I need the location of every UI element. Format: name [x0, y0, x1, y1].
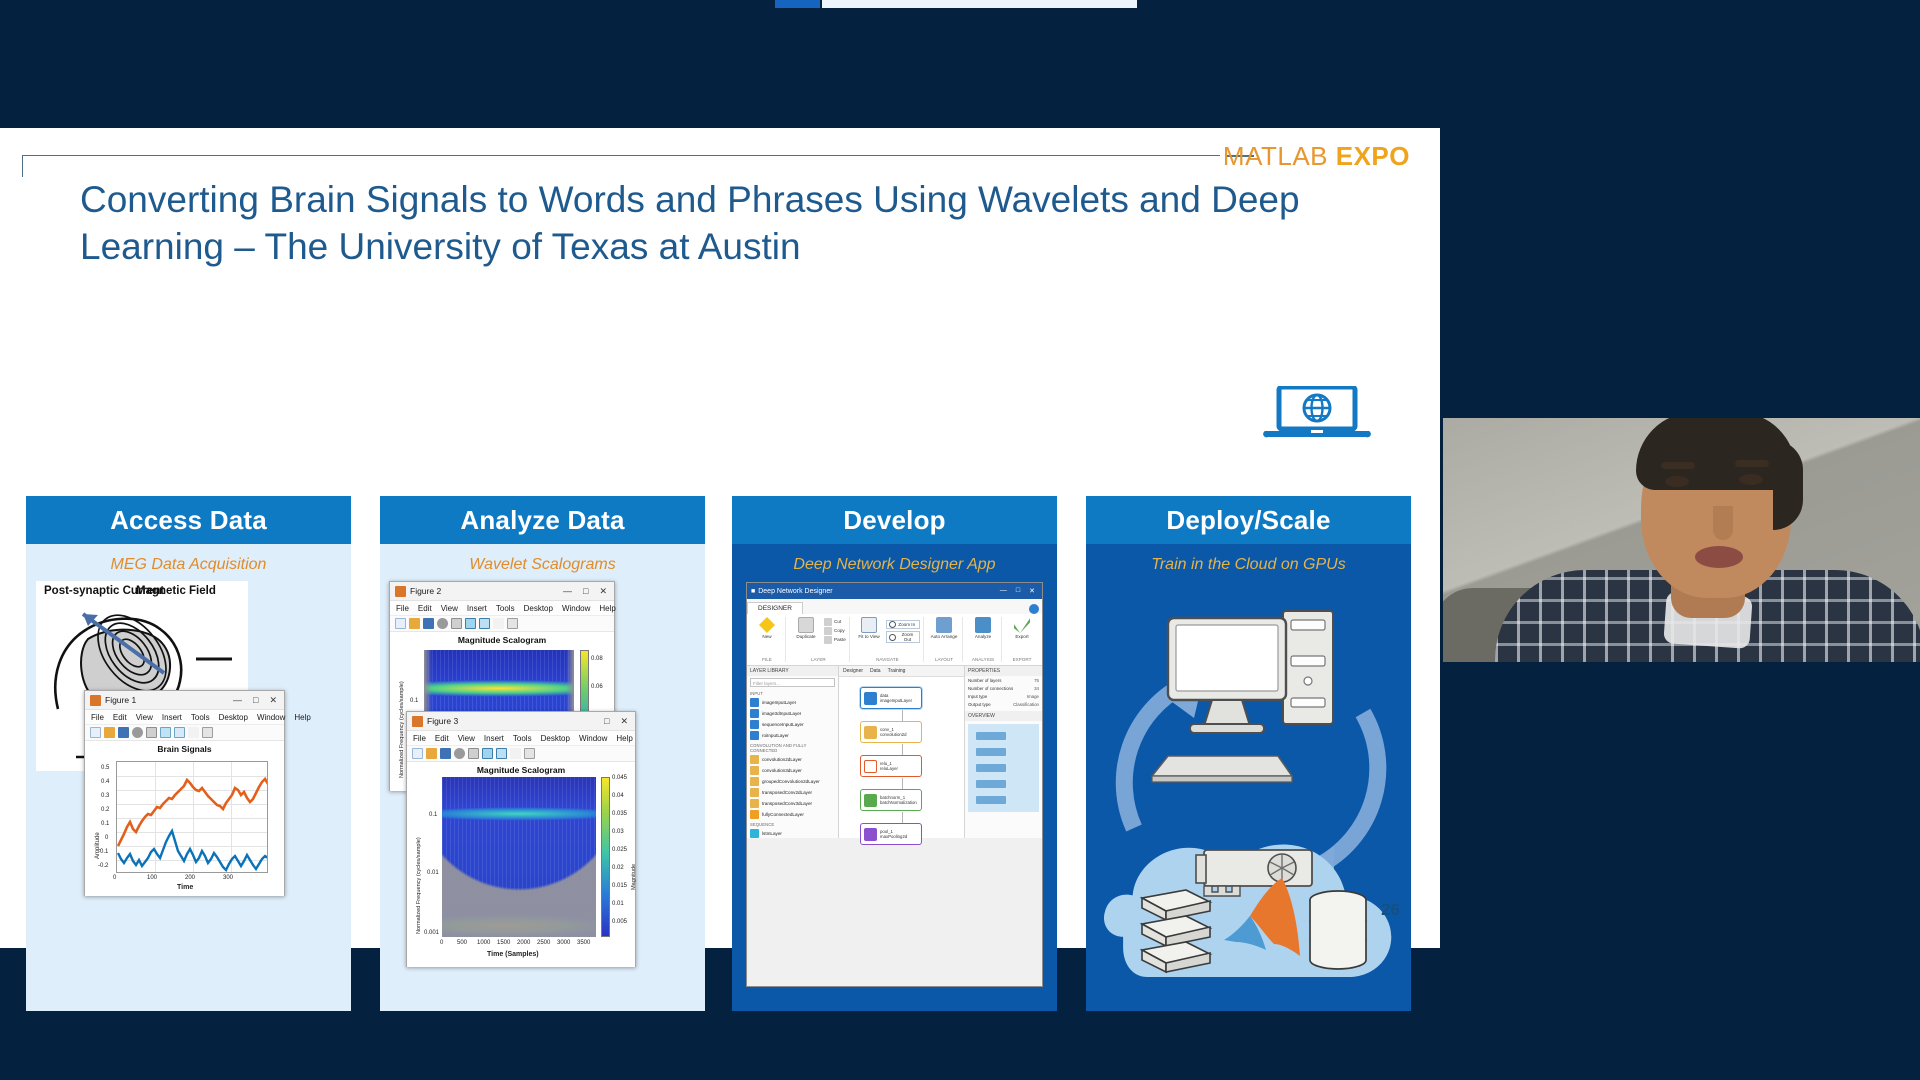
- app-ribbon[interactable]: New FILE Duplicate: [747, 614, 1042, 666]
- layer-library-panel[interactable]: LAYER LIBRARY Filter layers... INPUT ima…: [747, 666, 839, 838]
- save-icon[interactable]: [440, 748, 451, 759]
- figure-1-canvas: Brain Signals Amplitude 0.5 0.4 0.3 0.2 …: [85, 741, 284, 896]
- new-figure-icon[interactable]: [90, 727, 101, 738]
- ribbon-label-cut: Cut: [834, 619, 841, 624]
- webcam-eyebrow-left: [1661, 462, 1695, 469]
- menu-file[interactable]: File: [91, 713, 104, 722]
- layer-library-header: LAYER LIBRARY: [747, 666, 838, 676]
- property-value: 34: [1034, 686, 1039, 691]
- cb2-t7: 0.01: [612, 901, 624, 907]
- y-tick-1-2: 0.01: [427, 870, 439, 876]
- minimize-icon[interactable]: —: [1000, 587, 1007, 595]
- fit-to-view-icon: [861, 617, 877, 633]
- auto-arrange-icon: [936, 617, 952, 633]
- overview-header: OVERVIEW: [965, 711, 1042, 721]
- menu-file[interactable]: File: [413, 734, 426, 743]
- ribbon-button-export[interactable]: Export: [1007, 617, 1037, 639]
- print-preview-icon[interactable]: [132, 727, 143, 738]
- x-axis-label-time: Time: [177, 884, 193, 891]
- column-body-analyze-data: Wavelet Scalograms Figure 2 — □ ✕ File: [380, 544, 705, 1011]
- browser-active-tab-indicator[interactable]: [775, 0, 820, 8]
- figure-2-title: Figure 2: [410, 586, 441, 596]
- chart-title-magnitude-scalogram-2: Magnitude Scalogram: [407, 762, 635, 775]
- column-subtitle-develop: Deep Network Designer App: [732, 544, 1057, 574]
- figure-3-toolbar[interactable]: [407, 746, 635, 762]
- ribbon-group-analysis: Analyze ANALYSIS: [965, 617, 1002, 662]
- pointer-icon[interactable]: [510, 748, 521, 759]
- menu-desktop[interactable]: Desktop: [524, 604, 553, 613]
- property-key: Input type: [968, 694, 1027, 699]
- layer-icon: [750, 755, 759, 764]
- library-layer-item[interactable]: sequenceInputLayer: [747, 719, 838, 730]
- ribbon-group-layout: Auto Arrange LAYOUT: [926, 617, 963, 662]
- menu-tools[interactable]: Tools: [496, 604, 515, 613]
- cb2-t1: 0.04: [612, 793, 624, 799]
- header-rule: [22, 155, 1220, 156]
- print-icon[interactable]: [468, 748, 479, 759]
- webcam-mouth: [1695, 546, 1743, 568]
- menu-file[interactable]: File: [396, 604, 409, 613]
- figure-1-toolbar[interactable]: [85, 725, 284, 741]
- ribbon-label-paste: Paste: [834, 637, 846, 642]
- matlab-figure-icon: [90, 695, 101, 706]
- library-layer-item[interactable]: lstmLayer: [747, 828, 838, 838]
- library-category-sequence: SEQUENCE: [747, 820, 838, 828]
- chart-title-brain-signals: Brain Signals: [85, 741, 284, 754]
- pointer-icon[interactable]: [188, 727, 199, 738]
- ribbon-button-cut[interactable]: Cut: [824, 618, 846, 626]
- open-icon[interactable]: [409, 618, 420, 629]
- analyze-icon: [975, 617, 991, 633]
- canvas-node[interactable]: pool_1maxPooling2d: [860, 823, 922, 845]
- figure-3-window-buttons[interactable]: □ ✕: [604, 717, 632, 726]
- data-cursor-icon[interactable]: [465, 618, 476, 629]
- cloud-gpu-training-diagram: [1086, 578, 1411, 1008]
- menu-window[interactable]: Window: [579, 734, 607, 743]
- y-tick-6: -0.1: [98, 849, 108, 855]
- menu-insert[interactable]: Insert: [484, 734, 504, 743]
- column-header-analyze-data: Analyze Data: [380, 496, 705, 544]
- ribbon-label-zoom-in: Zoom In: [898, 622, 915, 627]
- ribbon-label-copy: Copy: [834, 628, 845, 633]
- menu-view[interactable]: View: [441, 604, 458, 613]
- cut-icon: [824, 618, 832, 626]
- column-header-develop: Develop: [732, 496, 1057, 544]
- y-tick-0-2: 0.1: [429, 812, 437, 818]
- layer-icon: [750, 777, 759, 786]
- library-category-convolution: CONVOLUTION AND FULLY CONNECTED: [747, 741, 838, 754]
- cb2-t6: 0.015: [612, 883, 627, 889]
- tab-training-view[interactable]: Training: [888, 668, 906, 674]
- matlab-figure-icon: [412, 716, 423, 727]
- matlab-figure-icon: [395, 586, 406, 597]
- figure-window-1[interactable]: Figure 1 — □ ✕ File Edit View Insert Too…: [84, 690, 285, 896]
- y-tick-7: -0.2: [98, 863, 108, 869]
- copy-icon: [824, 627, 832, 635]
- x2-t5: 2500: [537, 940, 550, 946]
- ribbon-group-label-navigate: NAVIGATE: [876, 657, 899, 662]
- property-key: Output type: [968, 702, 1013, 707]
- ribbon-button-copy[interactable]: Copy: [824, 627, 846, 635]
- menu-insert[interactable]: Insert: [467, 604, 487, 613]
- print-icon[interactable]: [146, 727, 157, 738]
- layer-search-input[interactable]: Filter layers...: [750, 678, 835, 687]
- colorbar-label-2: Magnitude: [631, 864, 637, 890]
- layer-icon: [750, 799, 759, 808]
- layer-icon: [750, 788, 759, 797]
- save-icon[interactable]: [118, 727, 129, 738]
- scalogram-heatmap-2: [442, 777, 596, 937]
- tab-designer-view[interactable]: Designer: [843, 668, 863, 674]
- figure-3-menubar[interactable]: File Edit View Insert Tools Desktop Wind…: [407, 731, 635, 746]
- app-icon: ■: [751, 588, 755, 595]
- ribbon-button-duplicate[interactable]: Duplicate: [791, 617, 821, 639]
- column-body-access-data: MEG Data Acquisition Post-synaptic Curre…: [26, 544, 351, 1011]
- layer-icon: [750, 766, 759, 775]
- menu-edit[interactable]: Edit: [418, 604, 432, 613]
- figure-1-titlebar[interactable]: Figure 1 — □ ✕: [85, 691, 284, 710]
- canvas-node[interactable]: conv_1convolution2d: [860, 721, 922, 743]
- presenter-webcam-video[interactable]: [1443, 400, 1920, 680]
- help-icon[interactable]: [1029, 604, 1039, 614]
- deep-network-designer-app[interactable]: ■ Deep Network Designer — □ ✕ DESIGNER: [746, 582, 1043, 987]
- library-layer-item[interactable]: image3dInputLayer: [747, 708, 838, 719]
- matlab-expo-logo: MATLAB EXPO: [1223, 141, 1410, 172]
- y-tick-2: 0.3: [101, 793, 109, 799]
- figure-1-window-buttons[interactable]: — □ ✕: [233, 696, 281, 705]
- property-value: Image: [1027, 694, 1039, 699]
- node-type: batchNormalization: [880, 800, 917, 805]
- menu-edit[interactable]: Edit: [435, 734, 449, 743]
- menu-view[interactable]: View: [136, 713, 153, 722]
- ribbon-label-fit-to-view: Fit to View: [858, 634, 879, 639]
- brain-signals-traces: [117, 762, 268, 873]
- menu-tools[interactable]: Tools: [191, 713, 210, 722]
- y-tick-0-1: 0.1: [410, 698, 418, 704]
- layer-icon: [750, 698, 759, 707]
- canvas-node[interactable]: dataimageInputLayer: [860, 687, 922, 709]
- menu-window[interactable]: Window: [257, 713, 285, 722]
- maximize-icon[interactable]: □: [583, 587, 588, 596]
- close-icon[interactable]: ✕: [620, 717, 628, 726]
- minimize-icon[interactable]: —: [233, 696, 242, 705]
- library-layer-item[interactable]: transposedConv3dLayer: [747, 798, 838, 809]
- x2-t3: 1500: [497, 940, 510, 946]
- y-tick-5: 0: [105, 835, 108, 841]
- app-window-title: Deep Network Designer: [758, 588, 832, 595]
- library-layer-item[interactable]: imageInputLayer: [747, 697, 838, 708]
- new-figure-icon[interactable]: [412, 748, 423, 759]
- property-row: Input type Image: [965, 692, 1042, 700]
- export-icon: [1014, 617, 1030, 633]
- webcam-nose: [1713, 506, 1733, 540]
- properties-panel[interactable]: PROPERTIES Number of layers 75 Number of…: [964, 666, 1042, 838]
- y-tick-3: 0.2: [101, 807, 109, 813]
- menu-help[interactable]: Help: [294, 713, 310, 722]
- column-body-deploy-scale: Train in the Cloud on GPUs: [1086, 544, 1411, 1011]
- ribbon-label-analyze: Analyze: [975, 634, 991, 639]
- menu-desktop[interactable]: Desktop: [541, 734, 570, 743]
- legend-icon[interactable]: [479, 618, 490, 629]
- menu-window[interactable]: Window: [562, 604, 590, 613]
- data-cursor-icon[interactable]: [482, 748, 493, 759]
- open-icon[interactable]: [104, 727, 115, 738]
- node-type: convolution2d: [880, 732, 907, 737]
- menu-desktop[interactable]: Desktop: [219, 713, 248, 722]
- data-cursor-icon[interactable]: [160, 727, 171, 738]
- property-value: Classification: [1013, 702, 1039, 707]
- ribbon-group-label-export: EXPORT: [1013, 657, 1032, 662]
- x2-t0: 0: [440, 940, 443, 946]
- ribbon-label-zoom-out: Zoom Out: [898, 632, 917, 642]
- y-tick-1: 0.4: [101, 779, 109, 785]
- paste-icon: [824, 636, 832, 644]
- layer-icon: [750, 810, 759, 819]
- layer-icon: [750, 829, 759, 838]
- logo-expo-text: EXPO: [1336, 141, 1410, 171]
- link-plot-icon[interactable]: [524, 748, 535, 759]
- cb2-t3: 0.03: [612, 829, 624, 835]
- new-figure-icon[interactable]: [395, 618, 406, 629]
- app-tabbar[interactable]: DESIGNER: [747, 599, 1042, 614]
- cb2-t8: 0.005: [612, 919, 627, 925]
- menu-help[interactable]: Help: [616, 734, 632, 743]
- layer-icon: [750, 731, 759, 740]
- column-subtitle-deploy-scale: Train in the Cloud on GPUs: [1086, 544, 1411, 574]
- save-icon[interactable]: [423, 618, 434, 629]
- x-tick-1: 100: [147, 875, 157, 881]
- x-tick-0: 0: [113, 875, 116, 881]
- column-subtitle-access-data: MEG Data Acquisition: [26, 544, 351, 574]
- colorbar-tick-0-1: 0.08: [591, 656, 603, 662]
- layer-icon: [864, 760, 877, 773]
- ribbon-group-label-layer: LAYER: [811, 657, 826, 662]
- node-type: imageInputLayer: [880, 698, 912, 703]
- figure-2-toolbar[interactable]: [390, 616, 614, 632]
- x2-t7: 3500: [577, 940, 590, 946]
- y-axis-label-normalized-frequency-2: Normalized Frequency (cycles/sample): [416, 837, 422, 934]
- library-category-input: INPUT: [747, 689, 838, 697]
- layer-icon: [750, 709, 759, 718]
- menu-insert[interactable]: Insert: [162, 713, 182, 722]
- canvas-node[interactable]: batchnorm_1batchNormalization: [860, 789, 922, 811]
- laptop-globe-icon: [1263, 386, 1371, 438]
- network-overview-minimap[interactable]: [968, 724, 1039, 812]
- figure-2-menubar[interactable]: File Edit View Insert Tools Desktop Wind…: [390, 601, 614, 616]
- layer-icon: [864, 692, 877, 705]
- x2-t2: 1000: [477, 940, 490, 946]
- legend-icon[interactable]: [496, 748, 507, 759]
- menu-edit[interactable]: Edit: [113, 713, 127, 722]
- menu-help[interactable]: Help: [599, 604, 615, 613]
- webcam-hair: [1636, 412, 1796, 490]
- ribbon-label-new: New: [762, 634, 771, 639]
- column-access-data: Access Data MEG Data Acquisition Post-sy…: [26, 496, 351, 1011]
- figure-2-window-buttons[interactable]: — □ ✕: [563, 587, 611, 596]
- page-title: Converting Brain Signals to Words and Ph…: [80, 176, 1370, 271]
- link-plot-icon[interactable]: [202, 727, 213, 738]
- column-header-access-data: Access Data: [26, 496, 351, 544]
- x2-t6: 3000: [557, 940, 570, 946]
- zoom-in-icon: [889, 621, 896, 628]
- cb2-t0: 0.045: [612, 775, 627, 781]
- close-icon[interactable]: ✕: [1029, 587, 1035, 595]
- layer-icon: [864, 828, 877, 841]
- column-develop: Develop Deep Network Designer App ■ Deep…: [732, 496, 1057, 1011]
- ribbon-group-file: New FILE: [749, 617, 786, 662]
- webcam-letterbox-bottom: [1443, 662, 1920, 680]
- close-icon[interactable]: ✕: [269, 696, 277, 705]
- browser-tab-strip[interactable]: [822, 0, 1137, 8]
- open-icon[interactable]: [426, 748, 437, 759]
- column-deploy-scale: Deploy/Scale Train in the Cloud on GPUs: [1086, 496, 1411, 1011]
- app-titlebar[interactable]: ■ Deep Network Designer — □ ✕: [747, 583, 1042, 599]
- header-rule-tick: [22, 155, 23, 177]
- node-type: reluLayer: [880, 766, 898, 771]
- maximize-icon[interactable]: □: [1016, 587, 1020, 595]
- print-preview-icon[interactable]: [454, 748, 465, 759]
- ribbon-group-label-file: FILE: [762, 657, 772, 662]
- ribbon-group-label-analysis: ANALYSIS: [972, 657, 994, 662]
- logo-matlab-text: MATLAB: [1223, 141, 1328, 171]
- webcam-eye-left: [1665, 476, 1689, 487]
- app-window-buttons[interactable]: — □ ✕: [1000, 587, 1038, 595]
- webcam-eyebrow-right: [1735, 460, 1769, 467]
- x2-t1: 500: [457, 940, 467, 946]
- library-layer-item[interactable]: groupedConvolution2dLayer: [747, 776, 838, 787]
- node-type: maxPooling2d: [880, 834, 907, 839]
- properties-header: PROPERTIES: [965, 666, 1042, 676]
- presentation-slide: MATLAB EXPO Converting Brain Signals to …: [0, 128, 1440, 948]
- library-layer-item[interactable]: roiInputLayer: [747, 730, 838, 741]
- screen: MATLAB EXPO Converting Brain Signals to …: [0, 0, 1920, 1080]
- x2-t4: 2000: [517, 940, 530, 946]
- duplicate-icon: [798, 617, 814, 633]
- property-value: 75: [1034, 678, 1039, 683]
- figure-3-titlebar[interactable]: Figure 3 □ ✕: [407, 712, 635, 731]
- layer-icon: [864, 794, 877, 807]
- ribbon-group-layer: Duplicate Cut Copy: [788, 617, 850, 662]
- slide-page-number: 26: [1381, 900, 1400, 920]
- new-icon: [759, 617, 775, 633]
- tab-data-view[interactable]: Data: [870, 668, 881, 674]
- canvas-tabs[interactable]: Designer Data Training: [839, 666, 964, 677]
- ribbon-button-zoom-out[interactable]: Zoom Out: [886, 631, 920, 643]
- x-tick-3: 300: [223, 875, 233, 881]
- zoom-out-icon: [889, 634, 896, 641]
- ribbon-button-fit-to-view[interactable]: Fit to View: [855, 617, 884, 639]
- menu-tools[interactable]: Tools: [513, 734, 532, 743]
- cb2-t5: 0.02: [612, 865, 624, 871]
- close-icon[interactable]: ✕: [599, 587, 607, 596]
- property-key: Number of connections: [968, 686, 1034, 691]
- legend-icon[interactable]: [174, 727, 185, 738]
- webcam-letterbox-top: [1443, 400, 1920, 418]
- figure-2-titlebar[interactable]: Figure 2 — □ ✕: [390, 582, 614, 601]
- layer-icon: [750, 720, 759, 729]
- column-header-deploy-scale: Deploy/Scale: [1086, 496, 1411, 544]
- y-tick-2-2: 0.001: [424, 930, 439, 936]
- maximize-icon[interactable]: □: [253, 696, 258, 705]
- x-axis-label-time-samples: Time (Samples): [487, 951, 539, 958]
- ribbon-button-paste[interactable]: Paste: [824, 636, 846, 644]
- ribbon-group-export: Export EXPORT: [1004, 617, 1040, 662]
- cb2-t2: 0.035: [612, 811, 627, 817]
- print-preview-icon[interactable]: [437, 618, 448, 629]
- colorbar-2: [601, 777, 610, 937]
- property-key: Number of layers: [968, 678, 1034, 683]
- network-canvas[interactable]: Designer Data Training: [839, 666, 964, 838]
- print-icon[interactable]: [451, 618, 462, 629]
- library-layer-item[interactable]: convolution2dLayer: [747, 754, 838, 765]
- figure-1-title: Figure 1: [105, 695, 136, 705]
- x-tick-2: 200: [185, 875, 195, 881]
- canvas-node[interactable]: relu_1reluLayer: [860, 755, 922, 777]
- link-plot-icon[interactable]: [507, 618, 518, 629]
- ribbon-button-new[interactable]: New: [752, 617, 782, 639]
- ribbon-group-label-layout: LAYOUT: [935, 657, 953, 662]
- tab-designer[interactable]: DESIGNER: [747, 602, 803, 614]
- ribbon-label-auto-arrange: Auto Arrange: [931, 634, 958, 639]
- ribbon-label-export: Export: [1015, 634, 1028, 639]
- figure-window-3[interactable]: Figure 3 □ ✕ File Edit View Insert Tools…: [406, 711, 636, 967]
- menu-view[interactable]: View: [458, 734, 475, 743]
- ribbon-group-navigate: Fit to View Zoom In Zoom Ou: [852, 617, 924, 662]
- library-layer-item[interactable]: fullyConnectedLayer: [747, 809, 838, 820]
- figure-3-title: Figure 3: [427, 716, 458, 726]
- layer-icon: [864, 726, 877, 739]
- column-subtitle-analyze-data: Wavelet Scalograms: [380, 544, 705, 574]
- chart-title-magnitude-scalogram-1: Magnitude Scalogram: [390, 632, 614, 645]
- pointer-icon[interactable]: [493, 618, 504, 629]
- property-row: Number of connections 34: [965, 684, 1042, 692]
- colorbar-tick-1-1: 0.06: [591, 684, 603, 690]
- ribbon-button-analyze[interactable]: Analyze: [968, 617, 998, 639]
- maximize-icon[interactable]: □: [604, 717, 609, 726]
- y-tick-0: 0.5: [101, 765, 109, 771]
- y-axis-label-normalized-frequency-1: Normalized Frequency (cycles/sample): [399, 681, 405, 778]
- library-layer-item[interactable]: transposedConv2dLayer: [747, 787, 838, 798]
- figure-1-menubar[interactable]: File Edit View Insert Tools Desktop Wind…: [85, 710, 284, 725]
- app-main-area: LAYER LIBRARY Filter layers... INPUT ima…: [747, 666, 1042, 838]
- browser-top-sliver: [0, 0, 1920, 12]
- column-analyze-data: Analyze Data Wavelet Scalograms Figure 2…: [380, 496, 705, 1011]
- property-row: Number of layers 75: [965, 676, 1042, 684]
- y-tick-4: 0.1: [101, 821, 109, 827]
- library-layer-item[interactable]: convolution3dLayer: [747, 765, 838, 776]
- minimize-icon[interactable]: —: [563, 587, 572, 596]
- webcam-eye-right: [1739, 474, 1763, 485]
- figure-3-canvas: Magnitude Scalogram Normalized Frequency…: [407, 762, 635, 967]
- ribbon-button-auto-arrange[interactable]: Auto Arrange: [929, 617, 959, 639]
- column-body-develop: Deep Network Designer App ■ Deep Network…: [732, 544, 1057, 1011]
- plot-area-brain-signals: [116, 761, 268, 873]
- cb2-t4: 0.025: [612, 847, 627, 853]
- ribbon-button-zoom-in[interactable]: Zoom In: [886, 620, 920, 629]
- property-row: Output type Classification: [965, 700, 1042, 708]
- ribbon-label-duplicate: Duplicate: [796, 634, 815, 639]
